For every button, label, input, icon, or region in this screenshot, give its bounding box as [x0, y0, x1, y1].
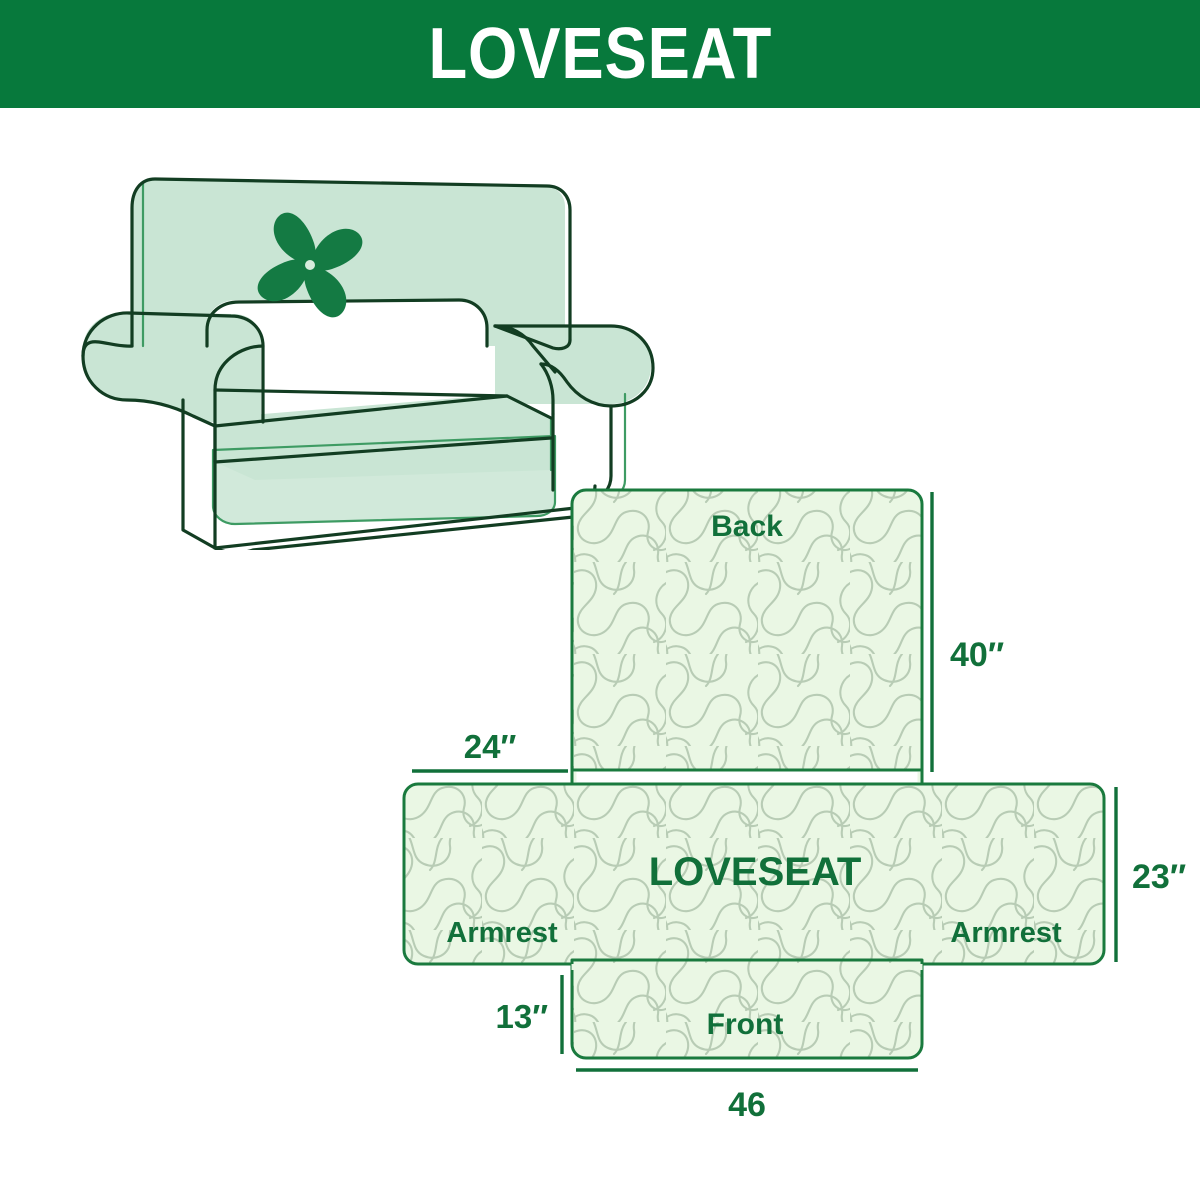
label-center: LOVESEAT [649, 850, 862, 894]
dim-label-back-offset: 24″ [464, 728, 517, 765]
label-armrest-right: Armrest [950, 917, 1062, 949]
header-bar: LOVESEAT [0, 0, 1200, 108]
label-back: Back [711, 510, 783, 543]
right-arm-fill [495, 326, 651, 404]
label-armrest-left: Armrest [446, 917, 558, 949]
dim-label-front-height: 13″ [495, 998, 548, 1035]
dim-label-front-width: 46 [728, 1086, 766, 1124]
dim-label-back-height: 40″ [950, 636, 1004, 674]
cover-shape-group [404, 490, 1104, 1058]
page-title: LOVESEAT [428, 18, 772, 90]
cover-layout-diagram: Back LOVESEAT Armrest Armrest Front 40″ … [390, 470, 1190, 1130]
label-front: Front [707, 1008, 784, 1041]
product-dimension-infographic: LOVESEAT [0, 0, 1200, 1200]
dim-label-center-height: 23″ [1132, 858, 1186, 896]
